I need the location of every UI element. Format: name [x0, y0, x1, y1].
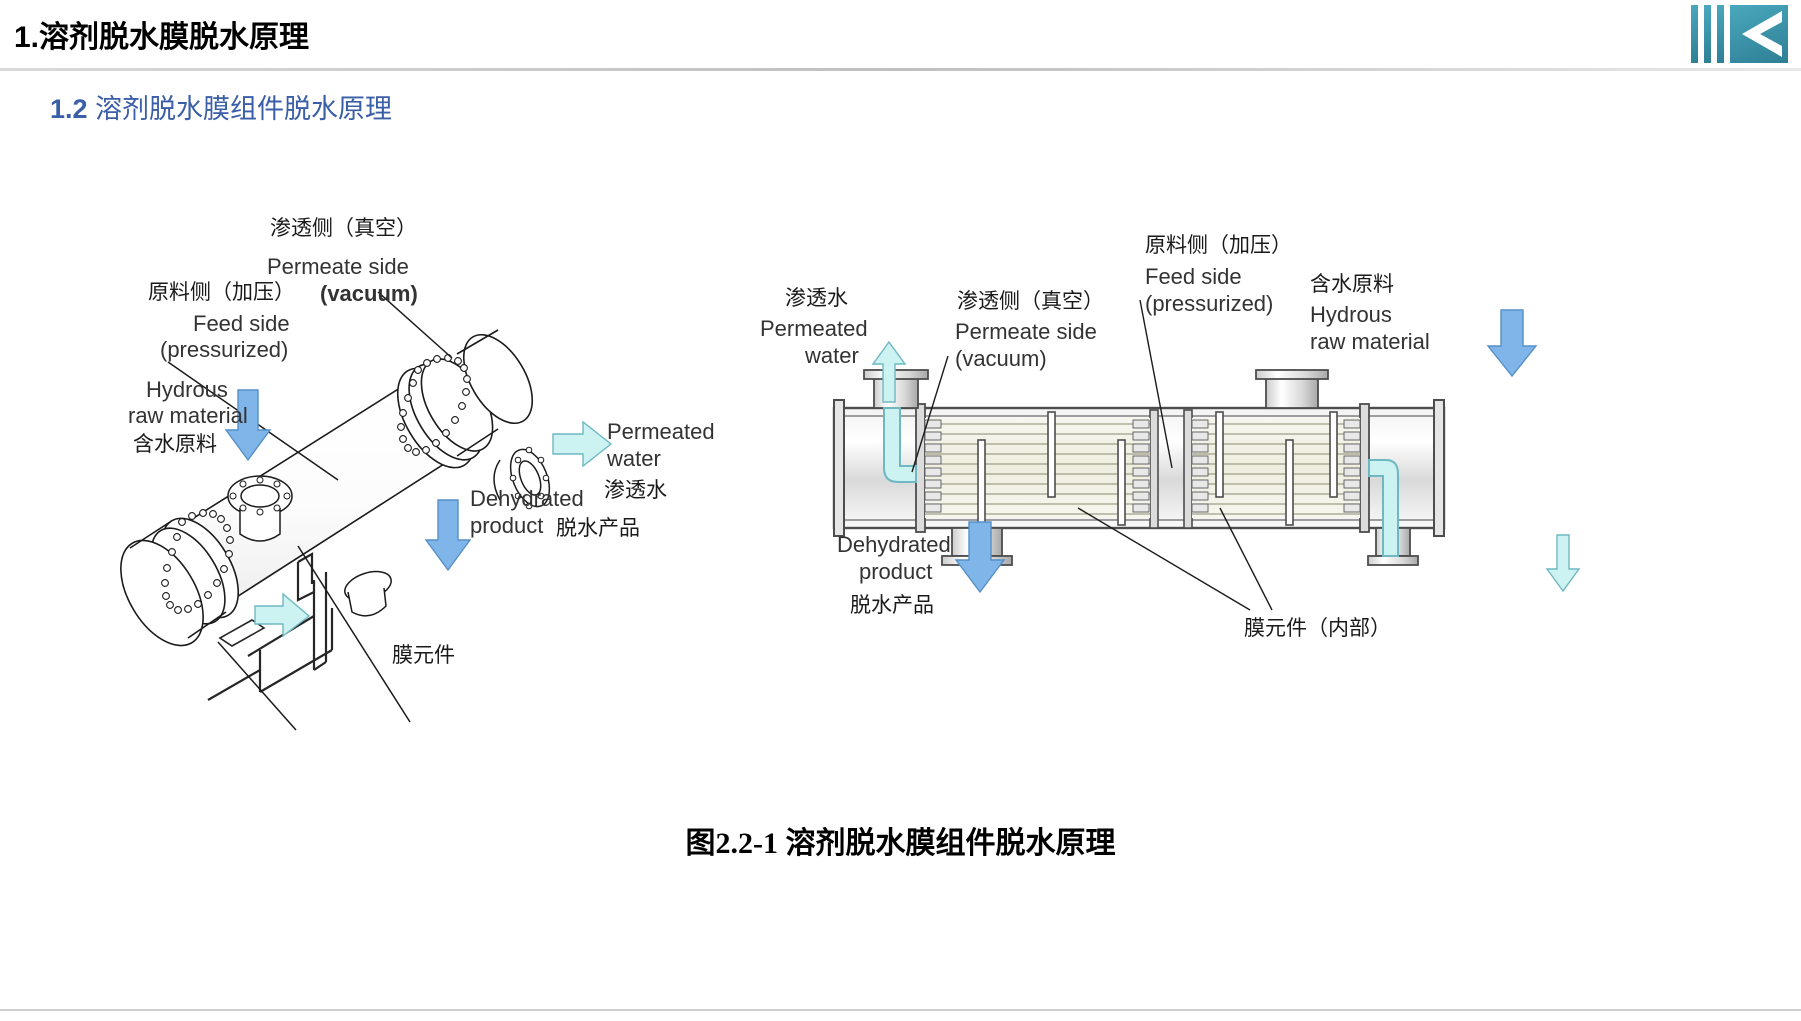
left-membrane-element-cn-label: 膜元件: [392, 644, 455, 668]
left-hydrous-raw-material-cn-label: 含水原料: [133, 433, 217, 457]
left-permeated-water-en-label-2: water: [607, 447, 661, 472]
left-permeated-water-en-label-1: Permeated: [607, 420, 715, 445]
figure-caption: 图2.2-1 溶剂脱水膜组件脱水原理: [0, 818, 1801, 862]
left-dehydrated-product-en-label-2: product: [470, 514, 543, 539]
section-number: 1.2: [50, 94, 88, 124]
right-hydrous-raw-material-en-label-2: raw material: [1310, 330, 1430, 355]
right-feed-inlet-arrow-icon: [1487, 310, 1537, 378]
right-permeated-water-cn-label: 渗透水: [785, 287, 848, 311]
section-title: 溶剂脱水膜组件脱水原理: [95, 94, 392, 124]
right-membrane-element-internal-cn-label: 膜元件（内部）: [1244, 617, 1391, 641]
left-dehydrated-product-en-label-1: Dehydrated: [470, 487, 584, 512]
footer-divider: [0, 1009, 1801, 1011]
right-hydrous-raw-material-cn-label: 含水原料: [1310, 273, 1394, 297]
right-dehydrated-product-en-label-1: Dehydrated: [837, 533, 951, 558]
left-feed-side-cn-label: 原料侧（加压）: [148, 281, 295, 305]
side-outlet-arrow-icon: [255, 590, 313, 638]
dehydrated-product-arrow-icon: [425, 500, 471, 572]
left-permeate-side-cn-label: 渗透侧（真空）: [270, 217, 417, 241]
page-title: 1.溶剂脱水膜脱水原理: [14, 12, 309, 56]
right-outlet-arrow-icon: [1546, 535, 1580, 593]
figure-area: 渗透侧（真空） Permeate side (vacuum) 原料侧（加压） F…: [0, 150, 1801, 800]
left-hydrous-raw-material-en-label-2: raw material: [128, 404, 248, 429]
left-permeated-water-cn-label: 渗透水: [604, 479, 667, 503]
left-feed-side-pressurized-label: (pressurized): [160, 338, 288, 363]
right-permeated-water-arrow-icon: [872, 342, 906, 404]
right-hydrous-raw-material-en-label-1: Hydrous: [1310, 303, 1392, 328]
right-dehydrated-product-cn-label: 脱水产品: [850, 594, 934, 618]
left-hydrous-raw-material-en-label-1: Hydrous: [146, 378, 228, 403]
right-feed-side-cn-label: 原料侧（加压）: [1145, 234, 1292, 258]
right-dehydrated-product-arrow-icon: [955, 522, 1005, 594]
right-feed-side-en-label-1: Feed side: [1145, 265, 1242, 290]
right-dehydrated-product-en-label-2: product: [859, 560, 932, 585]
kalsep-k-logo: [1691, 5, 1788, 63]
chevron-left-icon: [1730, 5, 1788, 63]
left-permeate-side-en-label: Permeate side: [267, 255, 409, 280]
right-feed-side-en-label-2: (pressurized): [1145, 292, 1273, 317]
right-permeate-side-cn-label: 渗透侧（真空）: [957, 290, 1104, 314]
right-permeate-side-en-label-2: (vacuum): [955, 347, 1047, 372]
title-divider: [0, 68, 1801, 71]
right-permeate-side-en-label-1: Permeate side: [955, 320, 1097, 345]
left-feed-side-en-label: Feed side: [193, 312, 290, 337]
right-permeated-water-en-label-2: water: [805, 344, 859, 369]
section-heading: 1.2 溶剂脱水膜组件脱水原理: [50, 87, 392, 126]
left-permeate-side-vacuum-label: (vacuum): [320, 282, 418, 307]
left-dehydrated-product-cn-label: 脱水产品: [556, 517, 640, 541]
right-permeated-water-en-label-1: Permeated: [760, 317, 868, 342]
